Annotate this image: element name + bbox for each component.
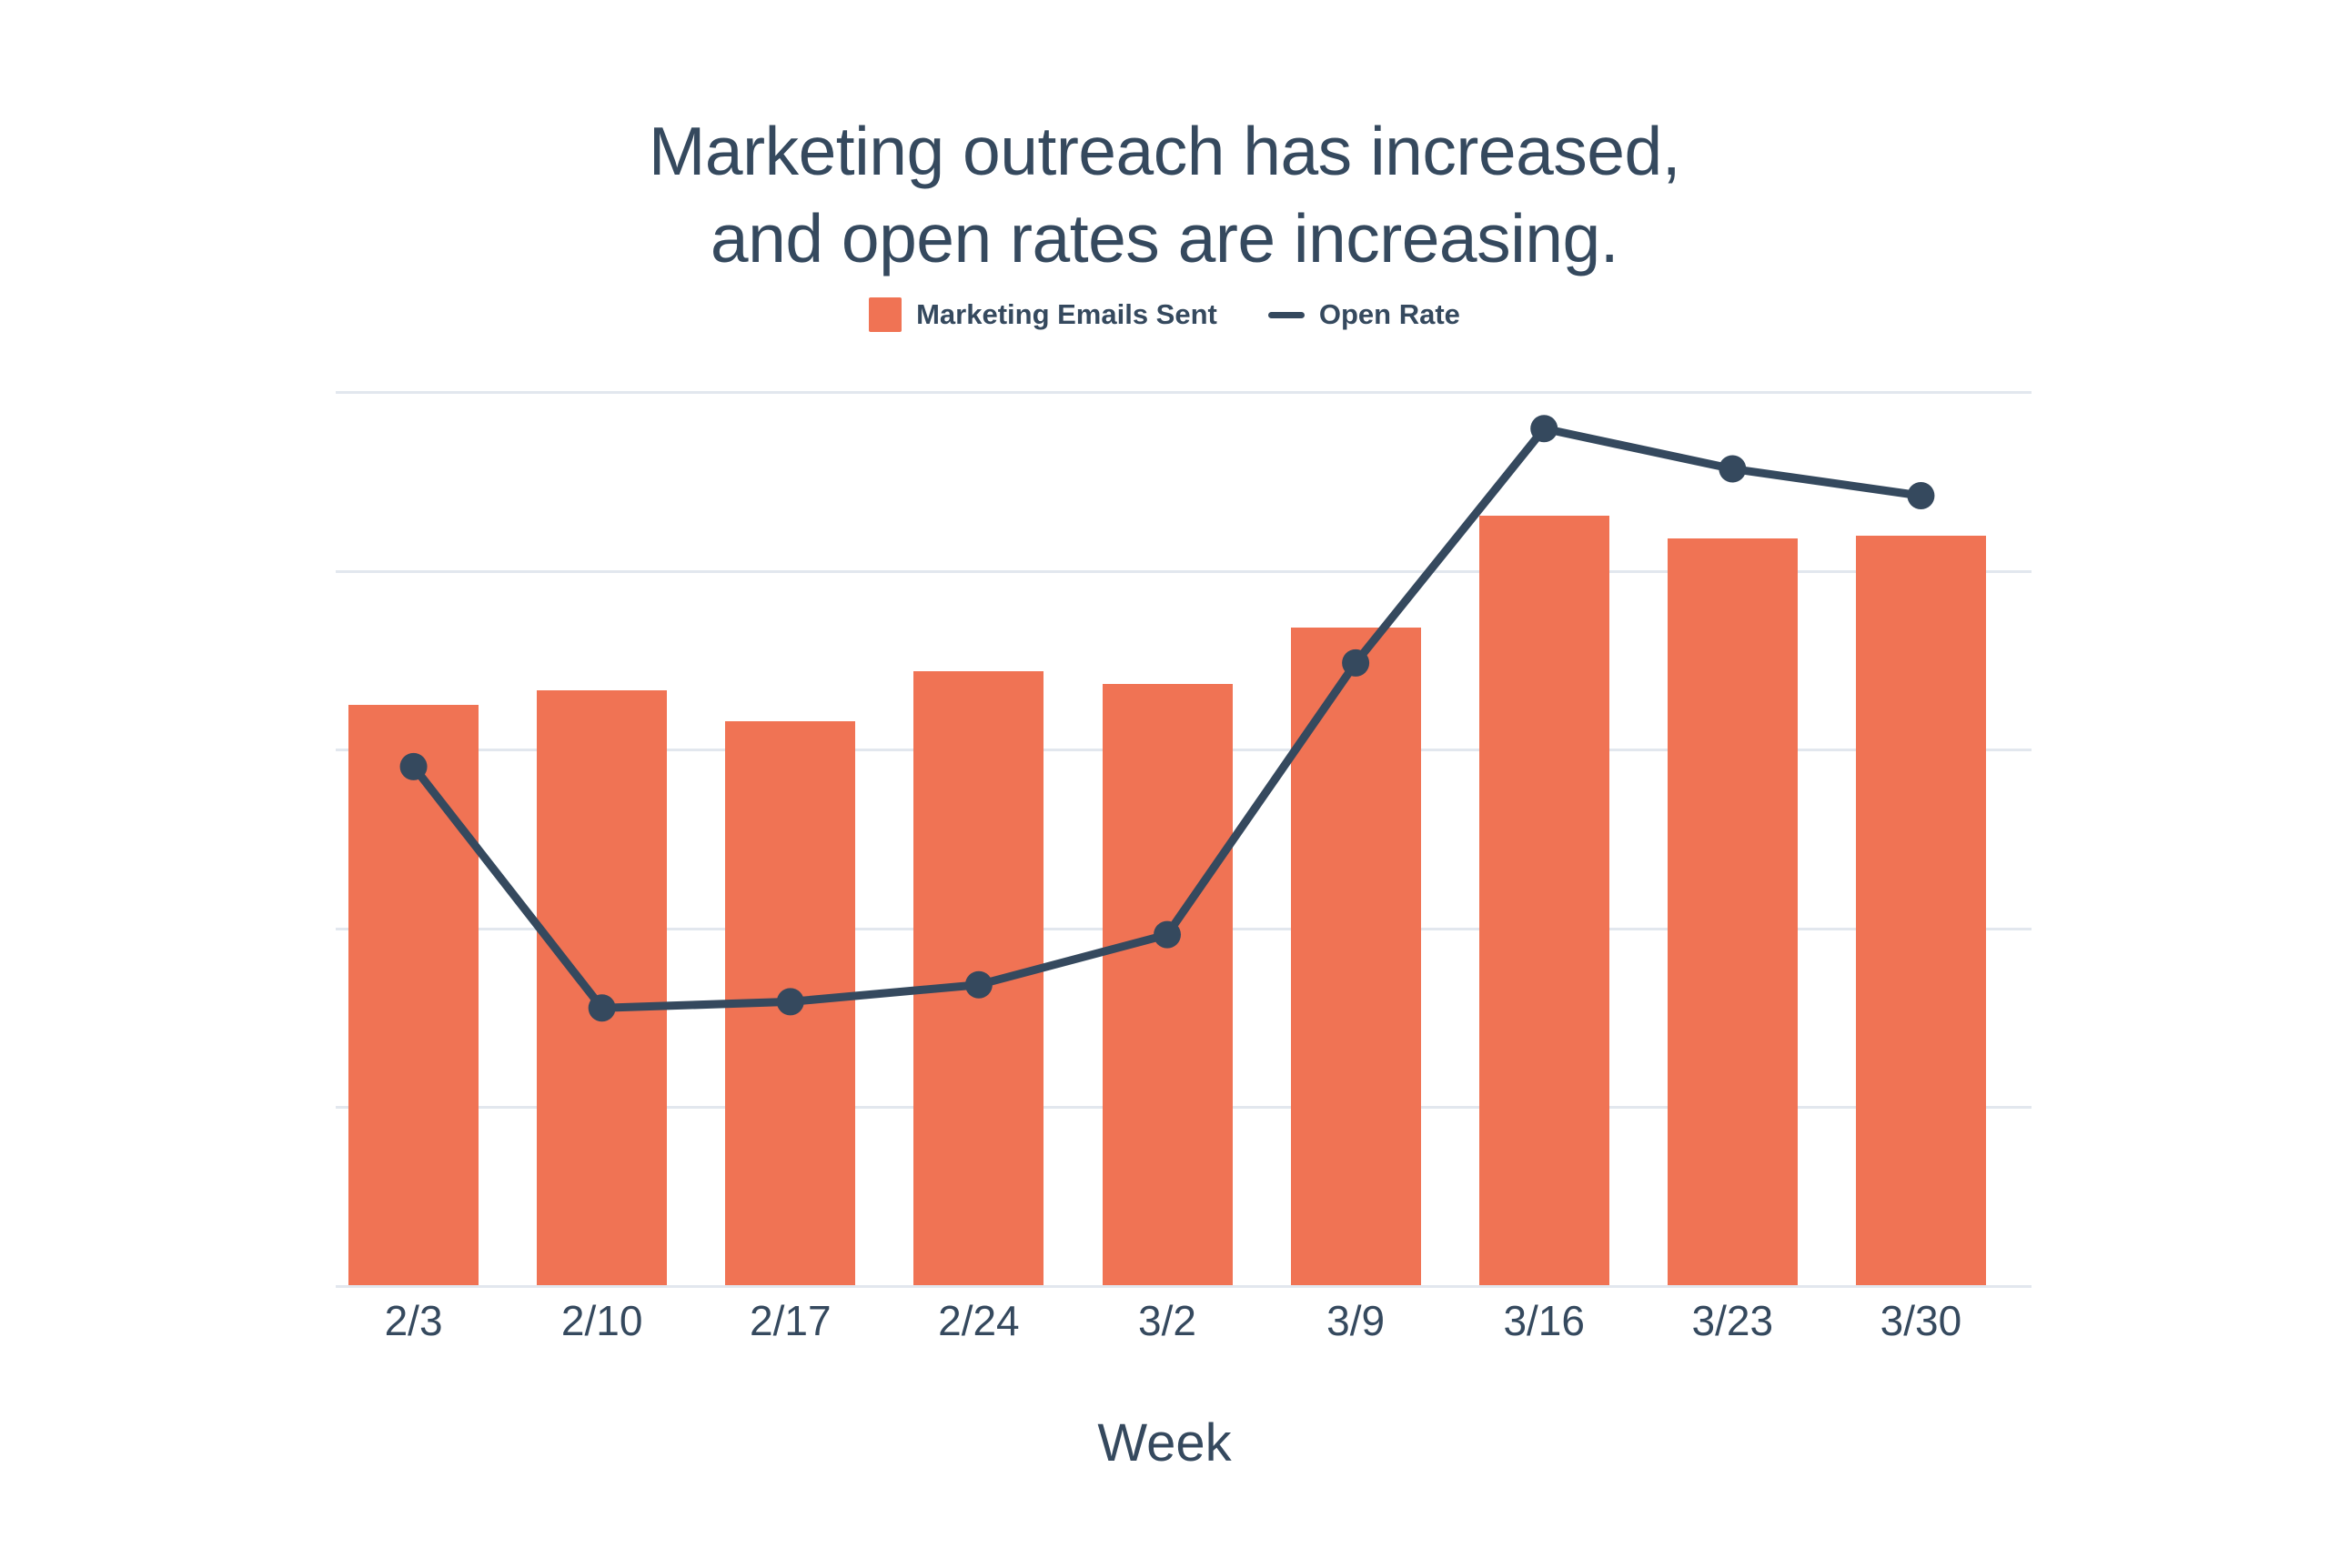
x-axis-tick-label: 3/23 [1638,1296,1827,1345]
open-rate-line-svg [336,282,2032,1285]
chart-figure: Marketing outreach has increased, and op… [0,0,2329,1568]
x-axis-tick-label: 2/17 [696,1296,884,1345]
open-rate-marker[interactable] [400,753,428,780]
chart-title: Marketing outreach has increased, and op… [0,107,2329,282]
open-rate-marker[interactable] [589,994,616,1021]
open-rate-marker[interactable] [965,971,993,999]
open-rate-marker[interactable] [1530,415,1558,442]
x-axis-tick-label: 3/16 [1450,1296,1638,1345]
x-axis-tick-label: 3/2 [1073,1296,1261,1345]
x-axis-tick-label: 3/9 [1262,1296,1450,1345]
x-axis-tick-label: 2/3 [319,1296,508,1345]
x-axis-title: Week [0,1412,2329,1473]
open-rate-marker[interactable] [1907,482,1934,509]
plot-area [336,391,2032,1285]
open-rate-marker[interactable] [1342,649,1369,677]
chart-title-line-2: and open rates are increasing. [0,195,2329,282]
x-axis-tick-labels: 2/32/102/172/243/23/93/163/233/30 [336,1296,2032,1378]
open-rate-marker[interactable] [1154,921,1181,949]
line-series-open-rate [336,391,2032,1285]
open-rate-marker[interactable] [777,988,804,1015]
x-axis-tick-label: 3/30 [1827,1296,2015,1345]
x-axis-tick-label: 2/24 [884,1296,1073,1345]
gridline [336,1285,2032,1288]
chart-title-line-1: Marketing outreach has increased, [0,107,2329,195]
x-axis-tick-label: 2/10 [508,1296,696,1345]
open-rate-marker[interactable] [1719,456,1746,483]
